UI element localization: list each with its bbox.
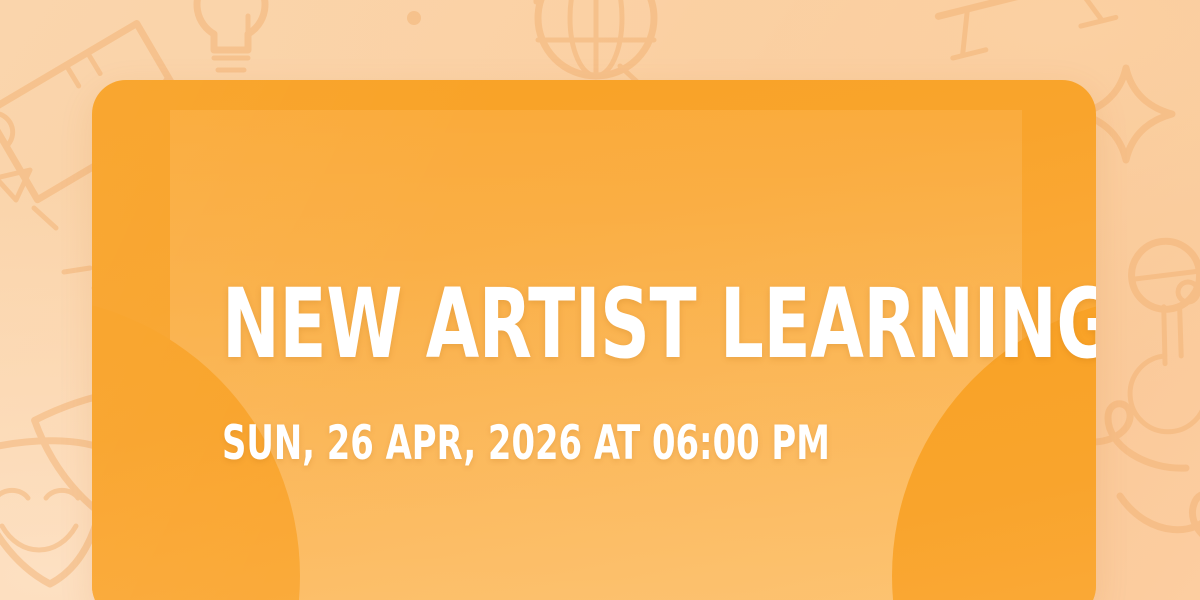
- drum-icon: [926, 0, 1116, 59]
- confetti-dash-icon: [34, 208, 94, 288]
- event-banner: NEW ARTIST LEARNING SESSION SUN, 26 APR,…: [0, 0, 1200, 600]
- globe-icon: [538, 0, 654, 76]
- event-title: NEW ARTIST LEARNING SESSION: [222, 276, 1096, 372]
- event-card-content: NEW ARTIST LEARNING SESSION SUN, 26 APR,…: [222, 80, 1092, 600]
- lightbulb-icon: [197, 0, 265, 70]
- microphone-icon: [1096, 228, 1200, 369]
- event-card: NEW ARTIST LEARNING SESSION SUN, 26 APR,…: [92, 80, 1096, 600]
- confetti-dash-icon: [0, 170, 30, 200]
- event-datetime: SUN, 26 APR, 2026 AT 06:00 PM: [222, 420, 830, 467]
